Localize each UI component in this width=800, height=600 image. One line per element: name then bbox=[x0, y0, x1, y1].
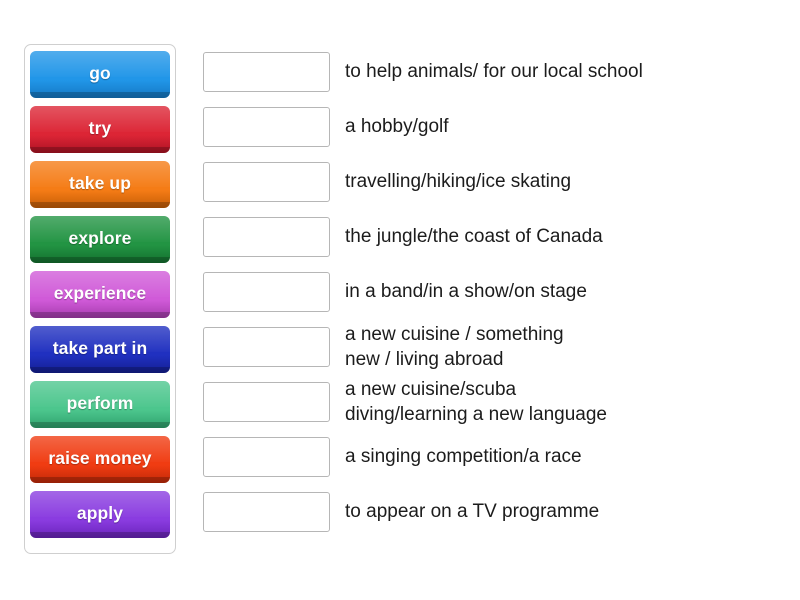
drop-target[interactable] bbox=[203, 272, 330, 312]
draggable-tile[interactable]: raise money bbox=[30, 436, 170, 483]
pair-row: a hobby/golf bbox=[203, 99, 783, 154]
pair-row: to help animals/ for our local school bbox=[203, 44, 783, 99]
answer-text: travelling/hiking/ice skating bbox=[345, 169, 571, 194]
drop-target[interactable] bbox=[203, 492, 330, 532]
tile-label: explore bbox=[69, 228, 132, 252]
pair-row: the jungle/the coast of Canada bbox=[203, 209, 783, 264]
tile-label: experience bbox=[54, 283, 146, 307]
answer-text: a hobby/golf bbox=[345, 114, 449, 139]
draggable-tile[interactable]: apply bbox=[30, 491, 170, 538]
drop-target[interactable] bbox=[203, 217, 330, 257]
drop-target[interactable] bbox=[203, 107, 330, 147]
draggable-tile[interactable]: take up bbox=[30, 161, 170, 208]
tile-label: take up bbox=[69, 173, 131, 197]
tile-label: raise money bbox=[48, 448, 151, 472]
tiles-panel: go try take up explore experience take p… bbox=[24, 44, 176, 554]
tile-label: perform bbox=[67, 393, 134, 417]
answer-text: a new cuisine/scuba diving/learning a ne… bbox=[345, 377, 607, 427]
draggable-tile[interactable]: perform bbox=[30, 381, 170, 428]
answer-text: a new cuisine / something new / living a… bbox=[345, 322, 564, 372]
drop-target[interactable] bbox=[203, 52, 330, 92]
answer-text: a singing competition/a race bbox=[345, 444, 582, 469]
answer-text: to appear on a TV programme bbox=[345, 499, 599, 524]
pair-row: in a band/in a show/on stage bbox=[203, 264, 783, 319]
tile-label: apply bbox=[77, 503, 123, 527]
pair-row: travelling/hiking/ice skating bbox=[203, 154, 783, 209]
draggable-tile[interactable]: go bbox=[30, 51, 170, 98]
draggable-tile[interactable]: try bbox=[30, 106, 170, 153]
draggable-tile[interactable]: explore bbox=[30, 216, 170, 263]
pair-row: a new cuisine/scuba diving/learning a ne… bbox=[203, 374, 783, 429]
pair-row: a new cuisine / something new / living a… bbox=[203, 319, 783, 374]
tile-label: try bbox=[89, 118, 112, 142]
tile-label: take part in bbox=[53, 338, 148, 362]
tile-label: go bbox=[89, 63, 111, 87]
pair-row: a singing competition/a race bbox=[203, 429, 783, 484]
drop-target[interactable] bbox=[203, 162, 330, 202]
drop-target[interactable] bbox=[203, 327, 330, 367]
matchup-activity: go try take up explore experience take p… bbox=[0, 0, 800, 600]
drop-target[interactable] bbox=[203, 382, 330, 422]
draggable-tile[interactable]: take part in bbox=[30, 326, 170, 373]
answer-text: the jungle/the coast of Canada bbox=[345, 224, 603, 249]
pairs-list: to help animals/ for our local school a … bbox=[203, 44, 783, 539]
drop-target[interactable] bbox=[203, 437, 330, 477]
pair-row: to appear on a TV programme bbox=[203, 484, 783, 539]
draggable-tile[interactable]: experience bbox=[30, 271, 170, 318]
answer-text: in a band/in a show/on stage bbox=[345, 279, 587, 304]
answer-text: to help animals/ for our local school bbox=[345, 59, 643, 84]
